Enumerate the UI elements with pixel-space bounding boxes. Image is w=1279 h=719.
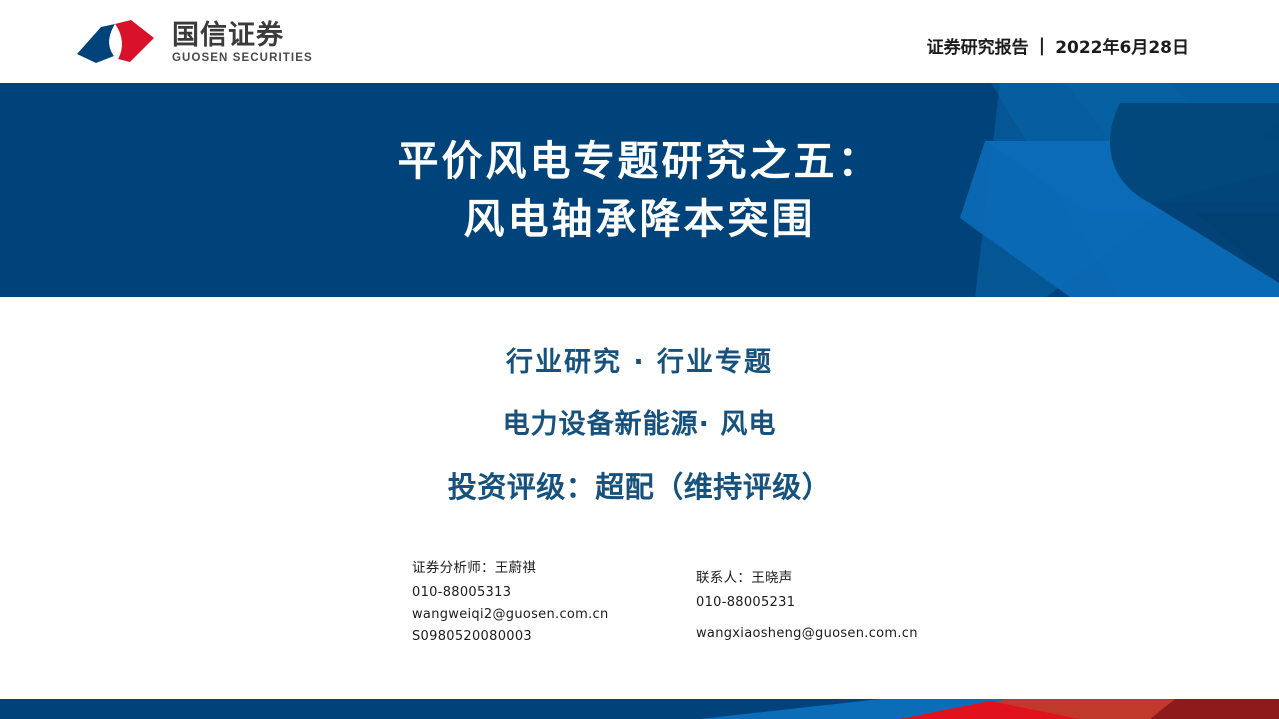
report-date: 2022年6月28日 bbox=[1055, 33, 1189, 58]
associate-email[interactable]: wangxiaosheng@guosen.com.cn bbox=[696, 626, 918, 641]
footer-stripe-decoration bbox=[0, 699, 1279, 719]
report-title: 平价风电专题研究之五： 风电轴承降本突围 bbox=[0, 83, 1279, 297]
industry-sector: 电力设备新能源· 风电 bbox=[503, 402, 777, 441]
report-type-label: 证券研究报告 bbox=[927, 33, 1029, 58]
report-cover-page: 国信证券 GUOSEN SECURITIES 证券研究报告 | 2022年6月2… bbox=[0, 0, 1279, 719]
analyst-block: 证券分析师：王蔚祺 010-88005313 wangweiqi2@guosen… bbox=[412, 556, 609, 651]
associate-block: 联系人：王晓声 010-88005231 wangxiaosheng@guose… bbox=[696, 566, 918, 657]
analyst-name: 证券分析师：王蔚祺 bbox=[412, 556, 609, 576]
header-divider: | bbox=[1039, 35, 1046, 56]
associate-name: 联系人：王晓声 bbox=[696, 566, 918, 586]
report-title-line-2: 风电轴承降本突围 bbox=[464, 194, 816, 244]
investment-rating: 投资评级：超配（维持评级） bbox=[448, 464, 832, 506]
footer-accent-bar bbox=[0, 699, 1279, 719]
associate-phone: 010-88005231 bbox=[696, 595, 918, 610]
title-banner: 平价风电专题研究之五： 风电轴承降本突围 bbox=[0, 83, 1279, 297]
brand-text: 国信证券 GUOSEN SECURITIES bbox=[172, 22, 313, 64]
research-category: 行业研究 · 行业专题 bbox=[506, 340, 773, 379]
analyst-phone: 010-88005313 bbox=[412, 585, 609, 600]
brand-name-en: GUOSEN SECURITIES bbox=[172, 52, 313, 64]
page-header: 国信证券 GUOSEN SECURITIES 证券研究报告 | 2022年6月2… bbox=[0, 0, 1279, 83]
analyst-license-number: S0980520080003 bbox=[412, 629, 609, 644]
guosen-logo-icon bbox=[74, 18, 160, 68]
contact-section: 证券分析师：王蔚祺 010-88005313 wangweiqi2@guosen… bbox=[0, 556, 1279, 656]
brand-logo: 国信证券 GUOSEN SECURITIES bbox=[74, 18, 313, 68]
report-title-line-1: 平价风电专题研究之五： bbox=[398, 136, 882, 186]
analyst-email[interactable]: wangweiqi2@guosen.com.cn bbox=[412, 607, 609, 622]
report-classification: 行业研究 · 行业专题 电力设备新能源· 风电 投资评级：超配（维持评级） bbox=[0, 340, 1279, 506]
header-meta: 证券研究报告 | 2022年6月28日 bbox=[927, 33, 1189, 58]
brand-name-cn: 国信证券 bbox=[172, 22, 313, 50]
